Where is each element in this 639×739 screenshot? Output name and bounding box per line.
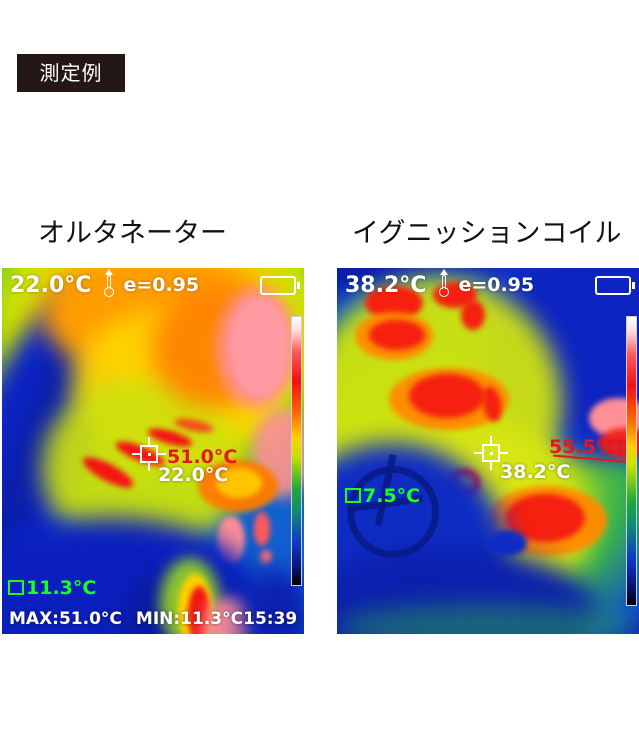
thermal-hotspot-patch: [230, 298, 288, 396]
thermal-hot-cell: [409, 374, 485, 418]
thermal-cool-spot: [487, 530, 527, 556]
emissivity-readout: e=0.95: [458, 274, 534, 296]
battery-full-icon: [260, 276, 296, 295]
thermal-hot-cell: [369, 320, 425, 350]
thermal-image-alternator: 22.0°C e=0.95 51.0°C 22.0°C 11.3°C MAX:5…: [2, 268, 304, 634]
thermal-hotspot-patch: [260, 550, 272, 564]
panel-caption-alternator: オルタネーター: [38, 220, 227, 247]
min-bracket-icon: [345, 486, 361, 501]
thermal-hotspot-patch: [254, 512, 270, 546]
thermometer-up-icon: [436, 272, 452, 298]
osd-top-bar-right: 38.2°C e=0.95: [337, 268, 639, 302]
center-temperature-label: 22.0°C: [158, 466, 228, 485]
section-badge: 測定例: [17, 54, 125, 92]
clock-readout: 15:39: [243, 609, 297, 629]
max-temperature-readout: MAX:51.0°C: [9, 609, 122, 629]
thermal-image-ignition-coil: 38.2°C e=0.95 38.2°C 55.5°C 7.5°C: [337, 268, 639, 634]
cold-spot-temperature-label: 7.5°C: [363, 487, 420, 506]
center-temperature-label: 38.2°C: [500, 463, 570, 482]
temperature-scale-bar: [626, 316, 637, 606]
osd-bottom-bar-left: MAX:51.0°C MIN:11.3°C 15:39: [2, 604, 304, 634]
panel-caption-ignition-coil: イグニッションコイル: [352, 220, 621, 247]
section-badge-label: 測定例: [40, 63, 103, 83]
thermal-hot-cell: [461, 300, 485, 330]
emissivity-readout: e=0.95: [123, 274, 199, 296]
thermometer-up-icon: [101, 272, 117, 298]
battery-full-icon: [595, 276, 631, 295]
center-temperature-readout: 22.0°C: [10, 273, 91, 298]
min-temperature-readout: MIN:11.3°C: [136, 609, 243, 629]
osd-top-bar-left: 22.0°C e=0.95: [2, 268, 304, 302]
center-temperature-readout: 38.2°C: [345, 273, 426, 298]
min-bracket-icon: [8, 578, 24, 593]
cold-spot-temperature-label: 11.3°C: [26, 579, 96, 598]
temperature-scale-bar: [291, 316, 302, 586]
pulley-outline-shape: [347, 466, 439, 558]
